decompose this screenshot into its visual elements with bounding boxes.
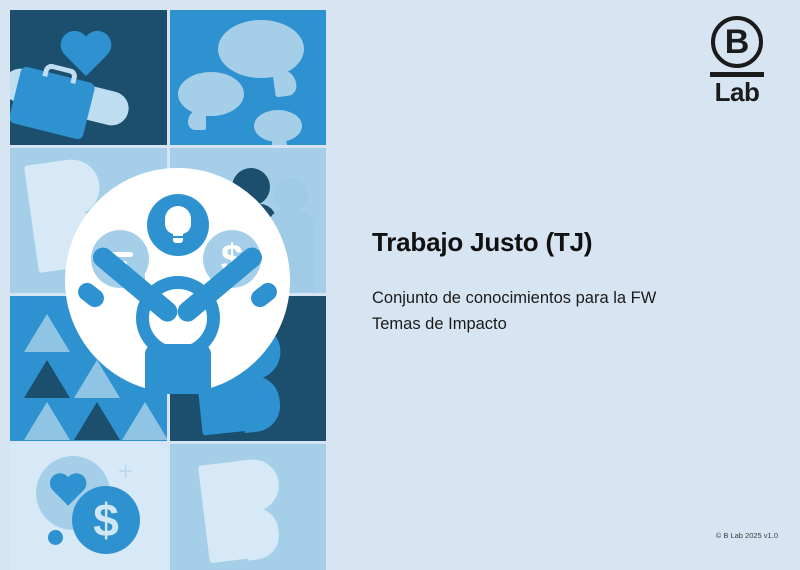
heart-and-briefcase-tile	[10, 10, 167, 145]
triangle-icon	[24, 360, 70, 398]
dot-icon	[48, 530, 63, 545]
plus-icon: +	[118, 458, 133, 484]
b-lab-circle-b-icon: B	[711, 16, 763, 68]
heart-coin-tile: $ +	[10, 444, 167, 570]
page-subtitle: Conjunto de conocimientos para la FW Tem…	[372, 286, 742, 337]
triangle-icon	[24, 314, 70, 352]
subtitle-line-2: Temas de Impacto	[372, 312, 742, 338]
slide-canvas: $ + $	[0, 0, 800, 570]
b-mark-pale-tile	[170, 444, 327, 570]
b-lab-wordmark: Lab	[706, 79, 768, 106]
speech-bubble-icon	[254, 110, 302, 142]
subtitle-line-1: Conjunto de conocimientos para la FW	[372, 286, 742, 312]
page-title: Trabajo Justo (TJ)	[372, 227, 772, 258]
lightbulb-icon	[147, 194, 209, 256]
triangle-icon	[24, 402, 70, 440]
triangle-icon	[122, 402, 167, 440]
copyright-footer: © B Lab 2025 v1.0	[716, 531, 778, 540]
b-lab-logo: B Lab	[706, 16, 768, 106]
triangle-icon	[74, 402, 120, 440]
fair-work-emblem: $	[65, 168, 290, 393]
speech-bubbles-tile	[170, 10, 327, 145]
dollar-coin-icon: $	[72, 486, 140, 554]
speech-bubble-icon	[178, 72, 244, 116]
speech-bubble-icon	[218, 20, 304, 78]
